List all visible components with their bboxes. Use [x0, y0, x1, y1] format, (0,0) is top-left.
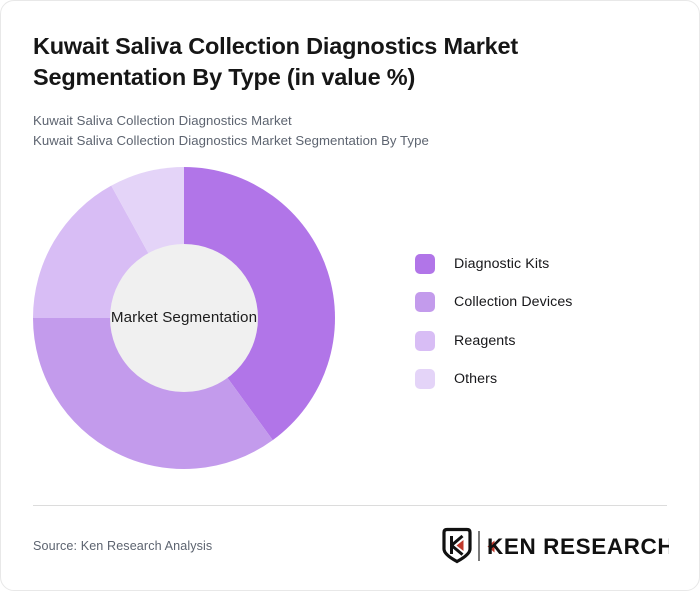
source-text: Source: Ken Research Analysis — [33, 539, 212, 553]
legend-swatch — [415, 254, 435, 274]
page-title: Kuwait Saliva Collection Diagnostics Mar… — [33, 31, 665, 94]
donut-inner-circle — [110, 244, 258, 392]
donut-chart: Market Segmentation — [33, 167, 335, 469]
ken-research-logo: KEN RESEARCH — [441, 527, 669, 565]
legend-item[interactable]: Reagents — [415, 321, 573, 359]
ken-research-shield-icon — [444, 530, 470, 562]
legend-label: Collection Devices — [454, 294, 573, 310]
legend-label: Diagnostic Kits — [454, 256, 549, 272]
chart-card: Kuwait Saliva Collection Diagnostics Mar… — [0, 0, 700, 591]
donut-chart-svg — [33, 167, 335, 469]
legend-swatch — [415, 369, 435, 389]
chart-header: Kuwait Saliva Collection Diagnostics Mar… — [1, 1, 699, 151]
ken-research-logo-svg: KEN RESEARCH — [441, 527, 669, 565]
ken-research-wordmark: KEN RESEARCH — [487, 534, 669, 559]
legend-item[interactable]: Others — [415, 360, 573, 398]
legend-label: Others — [454, 371, 497, 387]
chart-subtitle-line-2: Kuwait Saliva Collection Diagnostics Mar… — [33, 131, 665, 151]
chart-legend: Diagnostic KitsCollection DevicesReagent… — [415, 245, 573, 399]
footer-divider — [33, 505, 667, 506]
chart-subtitles: Kuwait Saliva Collection Diagnostics Mar… — [33, 111, 665, 151]
logo-divider — [478, 531, 480, 561]
chart-footer: Source: Ken Research Analysis KEN RESEAR… — [33, 523, 669, 569]
chart-area: Market Segmentation Diagnostic KitsColle… — [1, 159, 699, 489]
legend-swatch — [415, 292, 435, 312]
legend-item[interactable]: Diagnostic Kits — [415, 245, 573, 283]
legend-swatch — [415, 331, 435, 351]
legend-label: Reagents — [454, 333, 516, 349]
legend-item[interactable]: Collection Devices — [415, 283, 573, 321]
chart-subtitle-line-1: Kuwait Saliva Collection Diagnostics Mar… — [33, 111, 665, 131]
ken-research-wordmark-text: KEN RESEARCH — [487, 534, 669, 559]
